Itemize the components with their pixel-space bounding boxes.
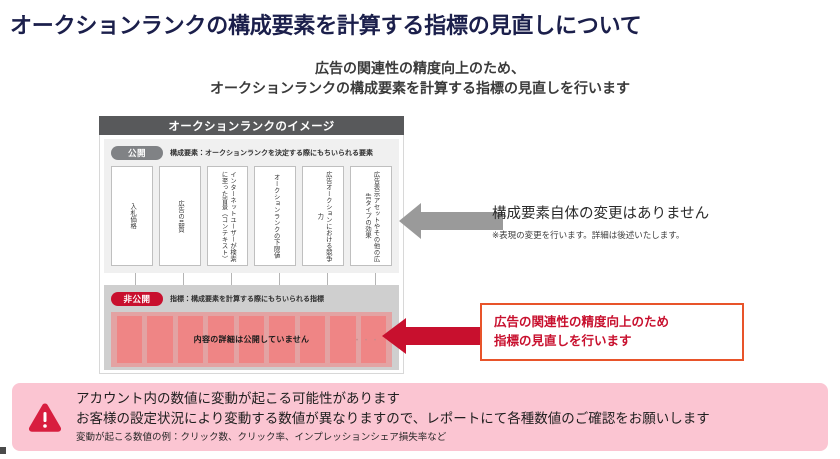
- callout-line-1: 広告の関連性の精度向上のため: [494, 313, 742, 332]
- connector-line: [279, 273, 280, 285]
- hidden-metrics-caption: 内容の詳細は公開していません: [111, 312, 392, 367]
- factor-label: 広告の品質: [175, 200, 184, 233]
- connector-line: [135, 273, 136, 285]
- arrow-left-icon: [382, 318, 482, 354]
- public-label-text: 構成要素：オークションランクを決定する際にもちいられる要素: [170, 148, 373, 158]
- metric-revision-callout: 広告の関連性の精度向上のため 指標の見直しを行います: [480, 303, 744, 361]
- factor-label: 広告表示アセットやその他の広告タイプの効果: [363, 169, 380, 263]
- connector-line: [375, 273, 376, 285]
- connector-line: [327, 273, 328, 285]
- private-label-text: 指標：構成要素を計算する際にもちいられる指標: [170, 294, 324, 304]
- factor-box: インターネットユーザーが検索に至った背景（コンテキスト）: [207, 166, 249, 266]
- connector-line: [183, 273, 184, 285]
- connector-lines: [104, 273, 401, 285]
- public-section: 公開 構成要素：オークションランクを決定する際にもちいられる要素 入札価格 広告…: [104, 139, 399, 273]
- auction-rank-diagram: オークションランクのイメージ 公開 構成要素：オークションランクを決定する際にも…: [99, 116, 404, 374]
- factor-label: インターネットユーザーが検索に至った背景（コンテキスト）: [219, 169, 236, 263]
- corner-mark: [0, 447, 6, 454]
- subtitle-line-2: オークションランクの構成要素を計算する指標の見直しを行います: [0, 78, 840, 98]
- note-main-text: 構成要素自体の変更はありません: [492, 206, 832, 223]
- warning-banner-text: アカウント内の数値に変動が起こる可能性があります お客様の設定状況により変動する…: [76, 389, 812, 446]
- factor-box: 広告オークションにおける競争力: [302, 166, 344, 266]
- private-section: 非公開 指標：構成要素を計算する際にもちいられる指標 内容の詳細は公開していませ…: [104, 285, 399, 370]
- private-label-row: 非公開 指標：構成要素を計算する際にもちいられる指標: [111, 291, 392, 306]
- hidden-metrics-bars: 内容の詳細は公開していません ・・・: [111, 312, 392, 367]
- arrow-left-icon: [399, 203, 503, 239]
- private-badge: 非公開: [111, 292, 163, 306]
- factor-box: 入札価格: [111, 166, 153, 266]
- factor-label: 広告オークションにおける競争力: [315, 169, 332, 263]
- connector-line: [231, 273, 232, 285]
- factor-box: 広告の品質: [159, 166, 201, 266]
- note-sub-text: ※表現の変更を行います。詳細は後述いたします。: [492, 229, 832, 241]
- diagram-body: 公開 構成要素：オークションランクを決定する際にもちいられる要素 入札価格 広告…: [99, 135, 404, 374]
- page-title: オークションランクの構成要素を計算する指標の見直しについて: [10, 8, 642, 40]
- public-badge: 公開: [111, 146, 163, 160]
- bars-ellipsis: ・・・: [353, 334, 380, 345]
- warning-triangle-icon: [28, 402, 62, 432]
- subtitle-block: 広告の関連性の精度向上のため、 オークションランクの構成要素を計算する指標の見直…: [0, 58, 840, 99]
- factor-label: オークションランクの下限値: [271, 174, 280, 259]
- warning-line-3: 変動が起こる数値の例：クリック数、クリック率、インプレッションシェア損失率など: [76, 430, 812, 445]
- structure-unchanged-note: 構成要素自体の変更はありません ※表現の変更を行います。詳細は後述いたします。: [492, 206, 832, 241]
- warning-banner: アカウント内の数値に変動が起こる可能性があります お客様の設定状況により変動する…: [12, 383, 828, 451]
- public-label-row: 公開 構成要素：オークションランクを決定する際にもちいられる要素: [111, 145, 392, 160]
- subtitle-line-1: 広告の関連性の精度向上のため、: [0, 58, 840, 78]
- factor-box-row: 入札価格 広告の品質 インターネットユーザーが検索に至った背景（コンテキスト） …: [111, 166, 392, 266]
- warning-line-2: お客様の設定状況により変動する数値が異なりますので、レポートにて各種数値のご確認…: [76, 409, 812, 429]
- diagram-header-title: オークションランクのイメージ: [99, 116, 404, 135]
- warning-line-1: アカウント内の数値に変動が起こる可能性があります: [76, 389, 812, 409]
- callout-line-2: 指標の見直しを行います: [494, 332, 742, 351]
- factor-label: 入札価格: [128, 203, 137, 229]
- factor-box: オークションランクの下限値: [254, 166, 296, 266]
- factor-box: 広告表示アセットやその他の広告タイプの効果: [350, 166, 392, 266]
